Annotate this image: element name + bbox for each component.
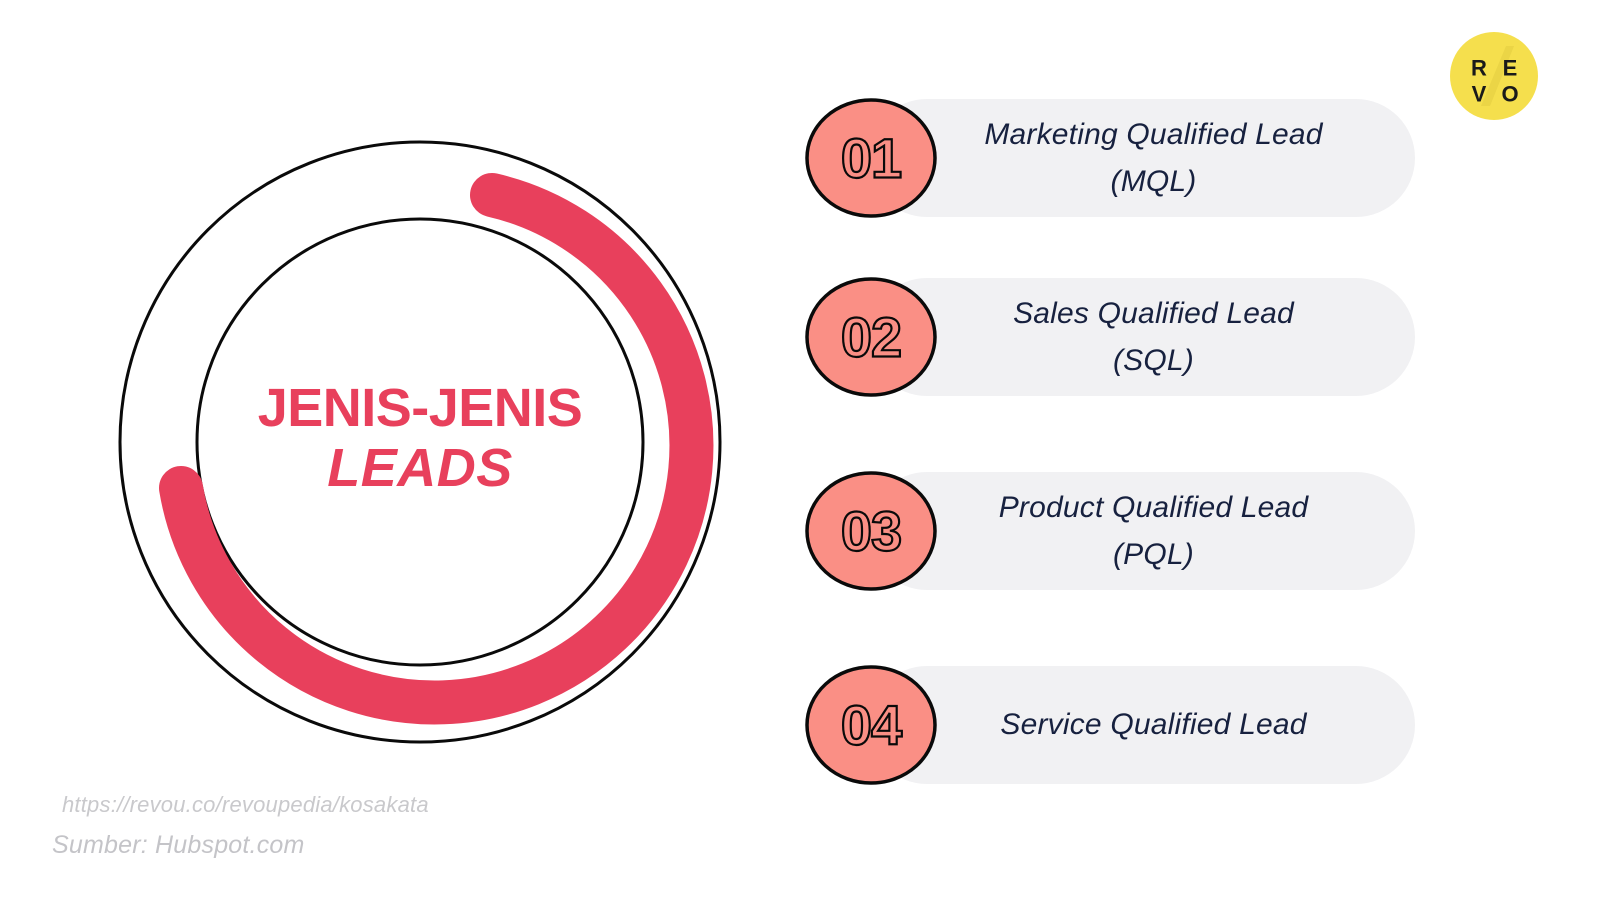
revou-logo[interactable]: R E V O: [1450, 32, 1538, 120]
list-item-badge[interactable]: 02: [805, 277, 937, 397]
logo-letter-r: R: [1471, 56, 1487, 81]
inner-ring-circle: [197, 219, 643, 665]
list-item-label: Sales Qualified Lead (SQL): [1013, 290, 1294, 385]
list-item-pill[interactable]: Sales Qualified Lead (SQL): [868, 278, 1415, 396]
list-item-badge[interactable]: 03: [805, 471, 937, 591]
list-item-pill[interactable]: Marketing Qualified Lead (MQL): [868, 99, 1415, 217]
logo-letter-o: O: [1501, 82, 1518, 107]
list-item[interactable]: Service Qualified Lead 04: [805, 665, 1415, 785]
badge-number: 02: [841, 306, 901, 369]
list-item-label: Service Qualified Lead: [1000, 701, 1306, 748]
logo-letter-e: E: [1503, 56, 1518, 81]
footer-source: Sumber: Hubspot.com: [52, 825, 612, 865]
list-item-pill[interactable]: Service Qualified Lead: [868, 666, 1415, 784]
badge-number: 04: [841, 694, 902, 757]
list-item-badge[interactable]: 01: [805, 98, 937, 218]
list-item-pill[interactable]: Product Qualified Lead (PQL): [868, 472, 1415, 590]
badge-number: 03: [841, 500, 901, 563]
lead-types-list: Marketing Qualified Lead (MQL) 01 Sales …: [805, 98, 1415, 788]
badge-number: 01: [841, 127, 901, 190]
list-item[interactable]: Product Qualified Lead (PQL) 03: [805, 471, 1415, 591]
list-item[interactable]: Marketing Qualified Lead (MQL) 01: [805, 98, 1415, 218]
list-item-label: Marketing Qualified Lead (MQL): [984, 111, 1322, 206]
outer-ring-circle: [120, 142, 720, 742]
logo-letter-v: V: [1472, 82, 1487, 107]
accent-arc: [181, 195, 691, 702]
list-item-label: Product Qualified Lead (PQL): [999, 484, 1309, 579]
list-item[interactable]: Sales Qualified Lead (SQL) 02: [805, 277, 1415, 397]
footer: https://revou.co/revoupedia/kosakata Sum…: [52, 786, 612, 865]
list-item-badge[interactable]: 04: [805, 665, 937, 785]
slide-canvas: JENIS-JENIS LEADS Marketing Qualified Le…: [0, 0, 1600, 900]
footer-url[interactable]: https://revou.co/revoupedia/kosakata: [52, 786, 612, 825]
circular-emblem: [110, 132, 730, 752]
